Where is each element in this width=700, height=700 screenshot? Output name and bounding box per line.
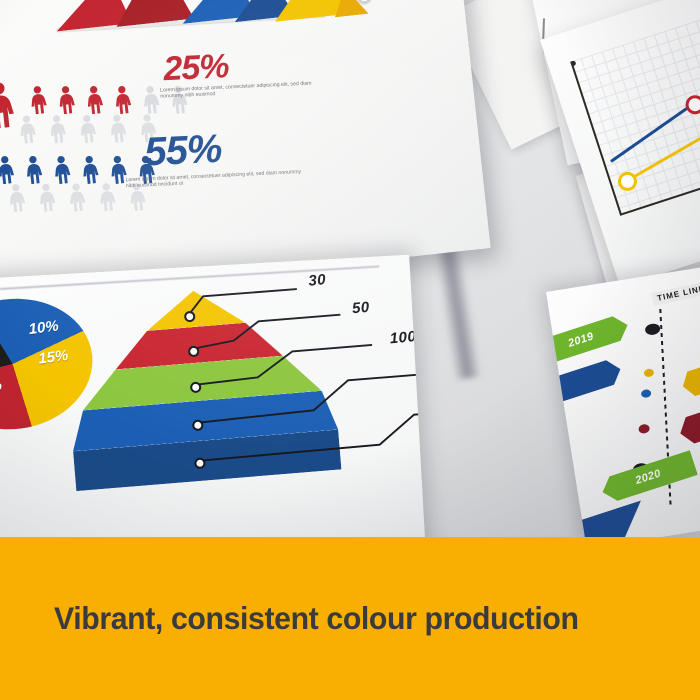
pyramid-label-50: 50 bbox=[351, 299, 370, 318]
male-pictogram bbox=[22, 155, 46, 185]
gender-statistics-sheet: 25% Lorem ipsum dolor sit amet, consecte… bbox=[0, 0, 491, 304]
male-pictogram-muted bbox=[35, 182, 59, 212]
timeline-banner-darkred bbox=[676, 394, 700, 447]
male-pictogram bbox=[78, 155, 102, 185]
timeline-banner-yellow bbox=[679, 351, 700, 399]
timeline-dot-3 bbox=[641, 389, 652, 398]
female-pictogram-muted bbox=[106, 113, 130, 143]
timeline-header: TIME LINE bbox=[651, 281, 700, 306]
timeline-dot-4 bbox=[638, 424, 650, 435]
female-pictogram bbox=[111, 85, 135, 115]
male-pictogram bbox=[50, 155, 74, 185]
photo-of-printed-infographics: 125 TIME LINE 2019 2020 bbox=[0, 0, 700, 537]
pie-and-pyramid-sheet: 35% 10% 15% 60% 0% bbox=[0, 255, 428, 537]
timeline-banner-blue-bottom bbox=[574, 500, 650, 537]
pyramid-label-30: 30 bbox=[308, 271, 327, 290]
male-pictogram bbox=[0, 155, 18, 185]
product-marketing-image: 125 TIME LINE 2019 2020 bbox=[0, 0, 700, 700]
female-pictogram bbox=[27, 85, 51, 115]
male-pictogram-muted bbox=[95, 182, 119, 212]
timeline-banner-blue bbox=[546, 357, 624, 410]
timeline-banner-2020: 2020 bbox=[599, 450, 698, 504]
stat-value-male: 55% bbox=[143, 127, 222, 176]
male-pictogram-muted bbox=[5, 183, 29, 213]
timeline-dot-2 bbox=[643, 368, 654, 377]
female-pictogram-muted bbox=[76, 114, 100, 144]
timeline-dot-1 bbox=[644, 323, 661, 336]
stat-value-female: 25% bbox=[163, 47, 230, 89]
male-pictogram-muted bbox=[65, 182, 89, 212]
caption-headline: Vibrant, consistent colour production bbox=[54, 600, 630, 637]
female-pictogram bbox=[83, 85, 107, 115]
pyramid-label-100: 100 bbox=[389, 328, 417, 347]
female-pictogram bbox=[55, 85, 79, 115]
female-pictogram-muted bbox=[16, 114, 40, 144]
timeline-banner-2019: 2019 bbox=[546, 313, 632, 368]
timeline-sheet: TIME LINE 2019 2020 bbox=[546, 253, 700, 537]
female-pictogram-muted bbox=[46, 114, 70, 144]
